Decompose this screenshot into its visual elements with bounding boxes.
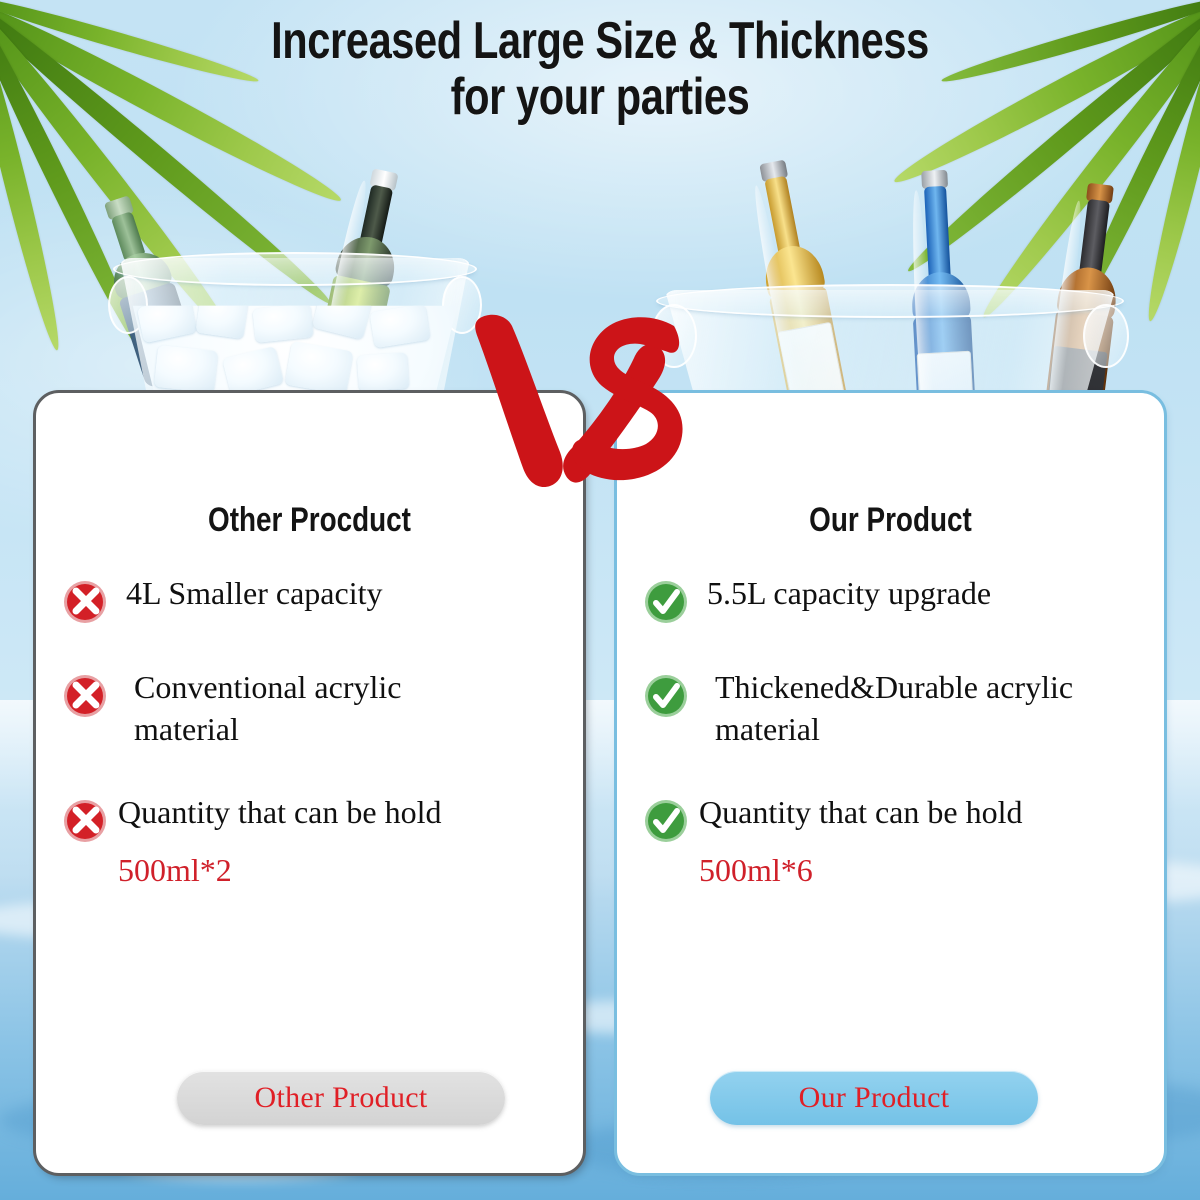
cross-circle-icon — [62, 673, 108, 719]
list-item-text: Thickened&Durable acrylic material — [689, 667, 1085, 750]
card-heading-ours: Our Product — [666, 501, 1115, 540]
versus-badge — [468, 300, 688, 500]
list-item-text: 5.5L capacity upgrade — [689, 573, 1138, 615]
comparison-card-other-product: Other Procduct 4L Smaller capacity — [33, 390, 586, 1176]
list-item: Quantity that can be hold 500ml*2 — [36, 792, 583, 891]
cross-circle-icon — [62, 579, 108, 625]
list-item-text: Quantity that can be hold 500ml*2 — [108, 792, 557, 891]
capacity-value: 500ml*6 — [699, 850, 1138, 892]
list-item: 4L Smaller capacity — [36, 573, 583, 625]
list-item-text: 4L Smaller capacity — [108, 573, 557, 615]
cross-circle-icon — [62, 798, 108, 844]
list-item-text: Conventional acrylic material — [108, 667, 508, 750]
page-title: Increased Large Size & Thickness for you… — [120, 14, 1080, 125]
vs-brush-strokes — [475, 315, 682, 487]
our-product-badge-label: Our Product — [799, 1081, 950, 1115]
title-line-1: Increased Large Size & Thickness — [271, 12, 929, 70]
card-heading-other: Other Procduct — [85, 501, 534, 540]
list-item: Quantity that can be hold 500ml*6 — [617, 792, 1164, 891]
capacity-value: 500ml*2 — [118, 850, 557, 892]
list-item: Conventional acrylic material — [36, 667, 583, 750]
comparison-card-our-product: Our Product 5.5L capacity upgrade — [614, 390, 1167, 1176]
other-product-badge[interactable]: Other Product — [177, 1071, 505, 1125]
feature-list-ours: 5.5L capacity upgrade Thickened&Durable … — [617, 573, 1164, 933]
feature-list-other: 4L Smaller capacity Conventional acrylic… — [36, 573, 583, 933]
list-item: 5.5L capacity upgrade — [617, 573, 1164, 625]
title-line-2: for your parties — [120, 70, 1080, 126]
check-circle-icon — [643, 798, 689, 844]
check-circle-icon — [643, 579, 689, 625]
list-item: Thickened&Durable acrylic material — [617, 667, 1164, 750]
check-circle-icon — [643, 673, 689, 719]
other-product-badge-label: Other Product — [254, 1081, 427, 1115]
list-item-text: Quantity that can be hold 500ml*6 — [689, 792, 1138, 891]
our-product-badge[interactable]: Our Product — [710, 1071, 1038, 1125]
